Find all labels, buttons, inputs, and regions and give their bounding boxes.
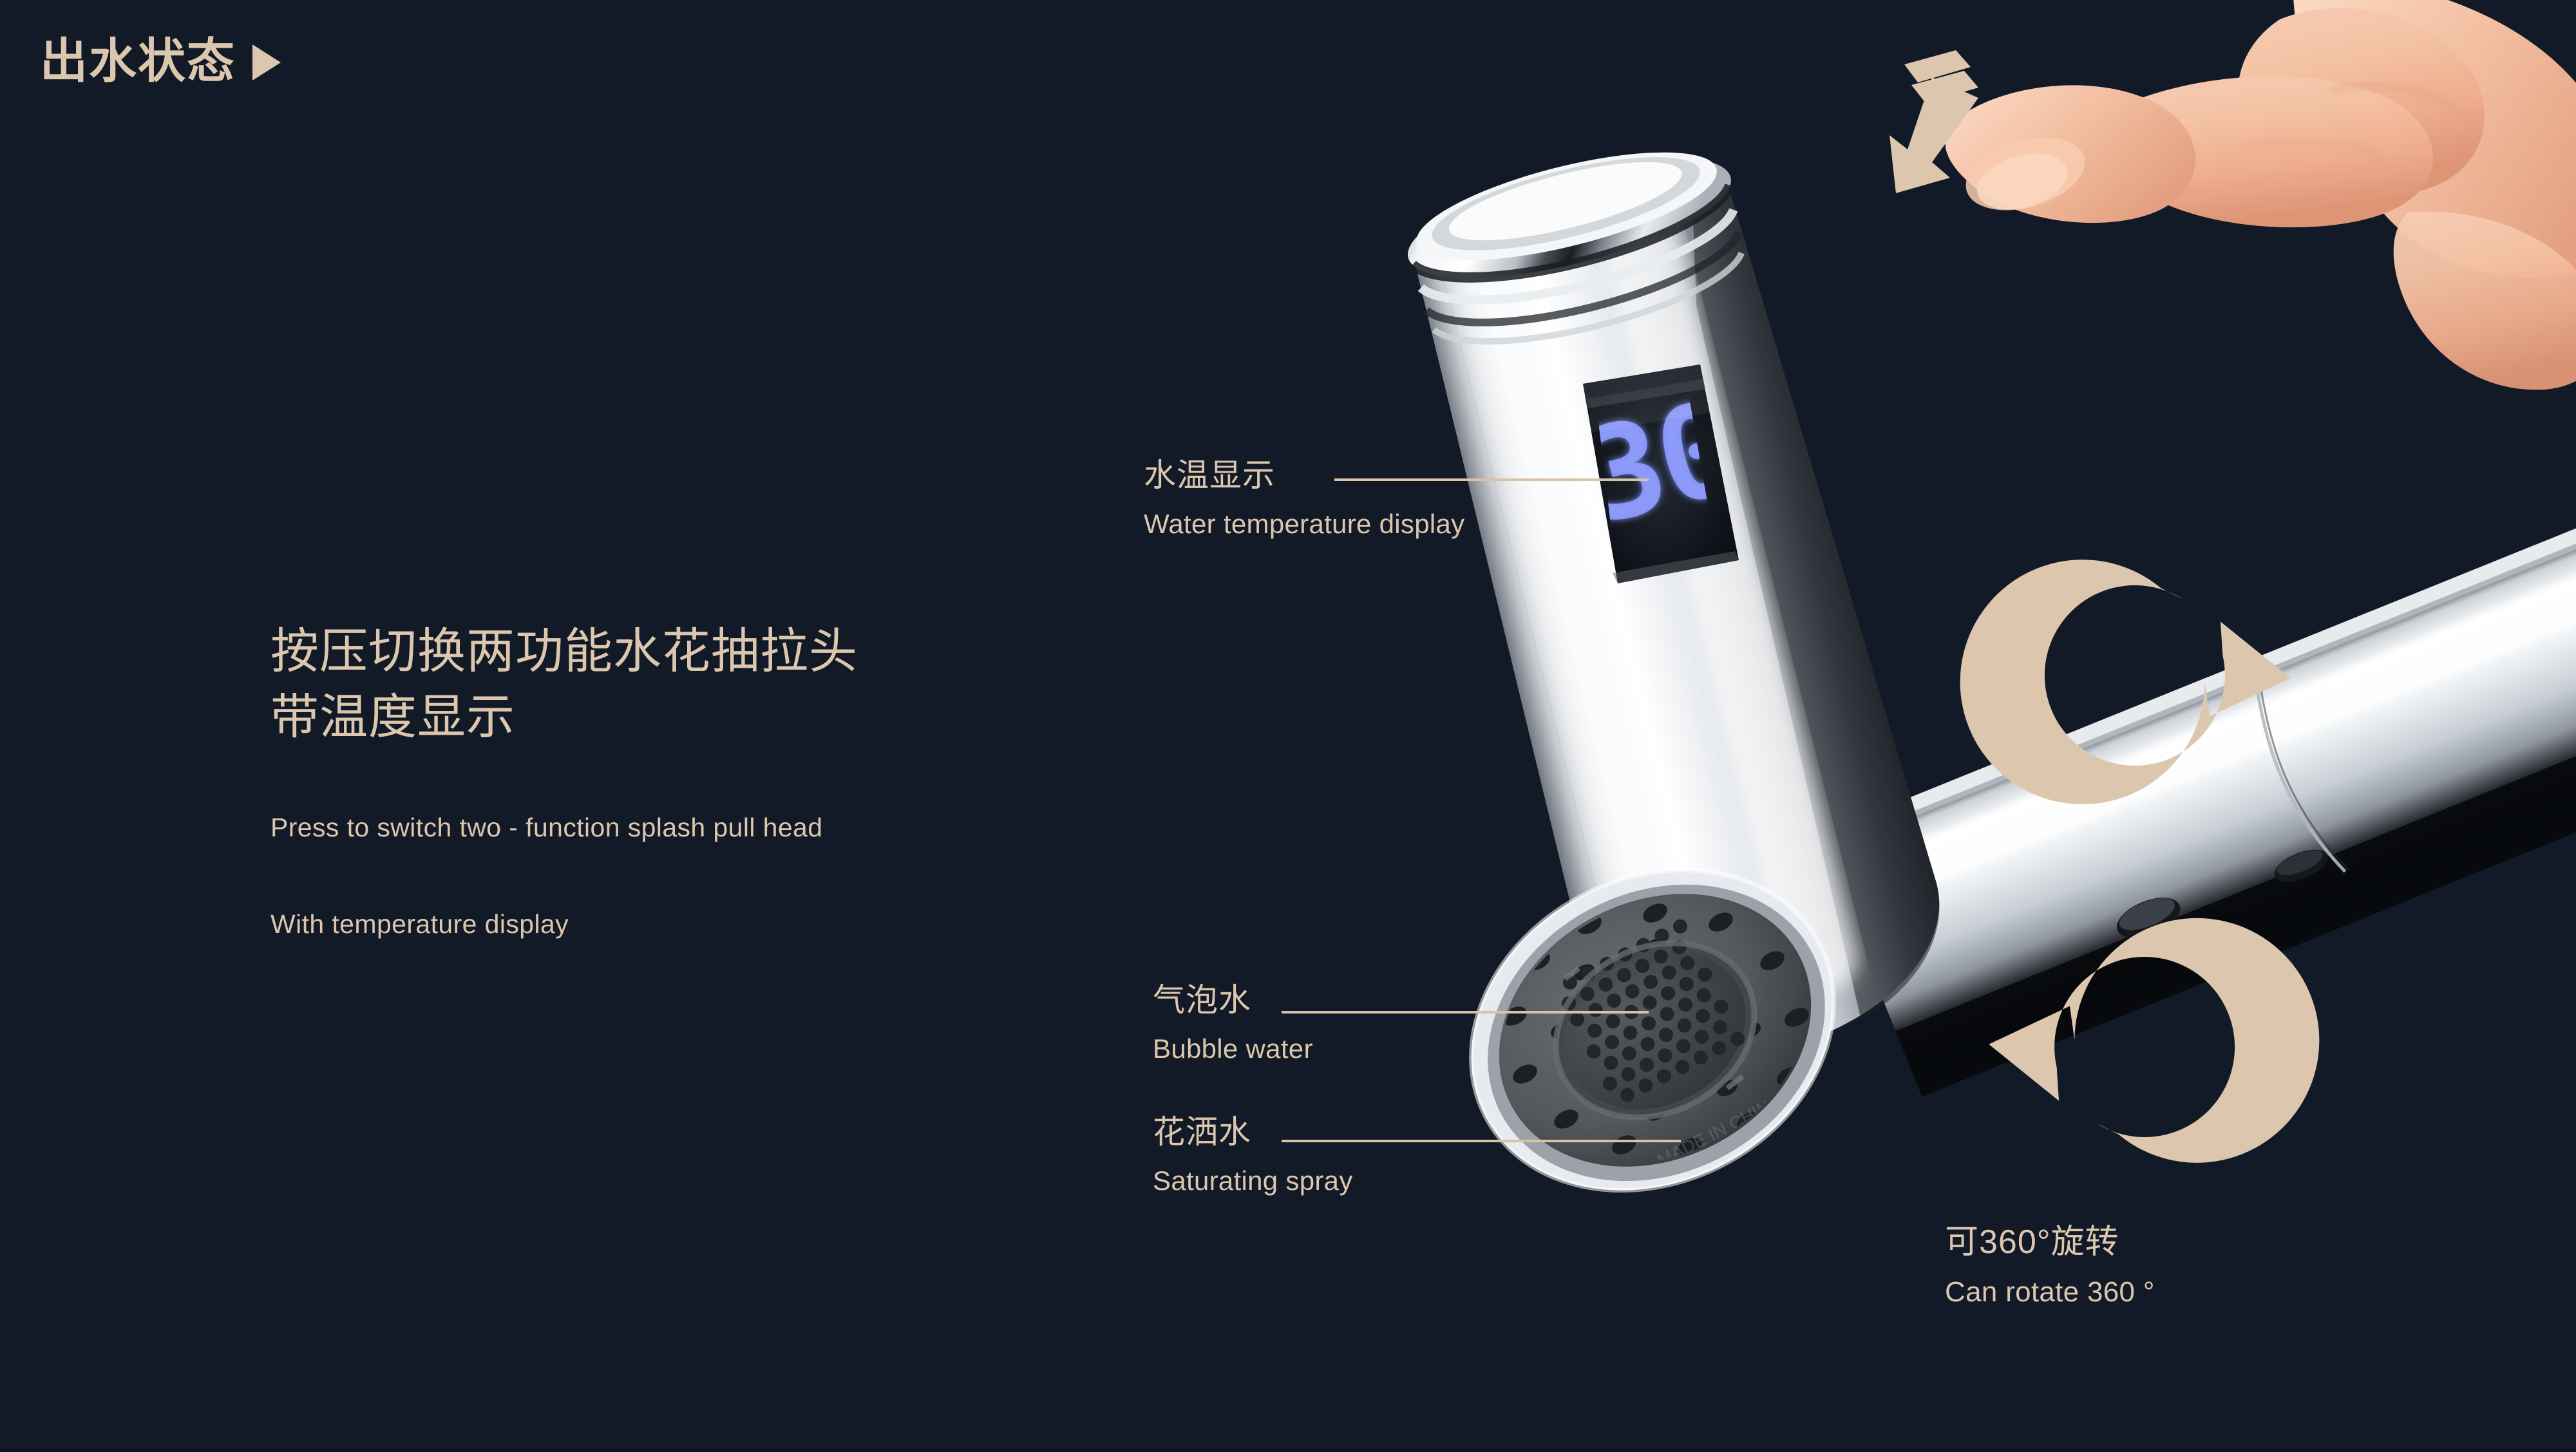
callout-temperature-cn: 水温显示 <box>1144 457 1464 495</box>
lead-copy-block: 按压切换两功能水花抽拉头 带温度显示 Press to switch two -… <box>270 618 1108 943</box>
lead-en-line-1: Press to switch two - function splash pu… <box>270 809 1108 846</box>
callout-spray-en: Saturating spray <box>1153 1165 1353 1196</box>
finger-press-hand <box>1946 0 2576 390</box>
rotate-counterclockwise-icon <box>1950 549 2299 822</box>
callout-leader-lines <box>1282 480 1681 1141</box>
rotate-clockwise-icon <box>1980 901 2329 1173</box>
svg-text:30: 30 <box>1570 373 1749 554</box>
callout-spray-cn: 花洒水 <box>1153 1114 1353 1151</box>
callout-bubble-cn: 气泡水 <box>1153 982 1313 1019</box>
lead-cn-line-1: 按压切换两功能水花抽拉头 <box>270 618 1108 684</box>
callout-bubble-en: Bubble water <box>1153 1033 1313 1064</box>
press-down-arrow-icon <box>1889 50 1987 193</box>
page-title: 出水状态 <box>40 37 236 85</box>
callout-rotation-en: Can rotate 360 ° <box>1945 1276 2155 1309</box>
callout-water-temperature: 水温显示 Water temperature display <box>1144 457 1464 540</box>
lead-en-line-2: With temperature display <box>270 905 1108 943</box>
temperature-digits: 30 30 <box>1570 373 1749 554</box>
temperature-display-panel: 30 30 <box>1570 364 1749 583</box>
callout-rotation-cn: 可360°旋转 <box>1945 1223 2155 1262</box>
page-header: 出水状态 <box>40 37 281 85</box>
lead-cn-line-2: 带温度显示 <box>270 684 1108 750</box>
chrome-spout-arm <box>1817 384 2576 1158</box>
play-triangle-icon <box>252 44 281 80</box>
callout-rotation: 可360°旋转 Can rotate 360 ° <box>1945 1223 2155 1308</box>
callout-saturating-spray: 花洒水 Saturating spray <box>1153 1114 1353 1196</box>
pull-down-spray-head <box>1396 120 1966 1091</box>
callout-bubble-water: 气泡水 Bubble water <box>1153 982 1313 1064</box>
callout-temperature-en: Water temperature display <box>1144 509 1464 540</box>
svg-text:MADE IN CHINA: MADE IN CHINA <box>1654 1091 1785 1171</box>
aerator-face-icon: MADE IN CHINA <box>1416 809 1889 1251</box>
svg-text:30: 30 <box>1570 373 1749 554</box>
